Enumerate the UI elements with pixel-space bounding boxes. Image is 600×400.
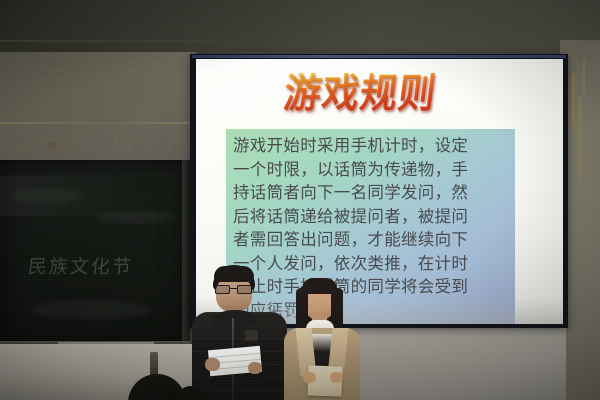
blackboard-smudge-1 [12, 188, 82, 204]
male-hand-left [205, 358, 220, 371]
wall-streak-4 [589, 150, 591, 196]
male-hand-right [248, 362, 262, 374]
male-jacket-logo [245, 330, 258, 341]
paper-line [209, 353, 261, 359]
blackboard-frame-right [182, 160, 190, 348]
wall-streak-2 [578, 96, 581, 180]
slide-body-line: 一个人发问，依次类推，在计时 [233, 252, 508, 276]
wall-scribble [6, 128, 186, 162]
male-glasses-lens-right [237, 285, 252, 294]
male-glasses [215, 285, 254, 294]
blackboard-chalk-text: 民族文化节 [27, 252, 150, 280]
wall-streak-3 [583, 60, 585, 94]
wall-streak-1 [572, 72, 575, 130]
slide-body-textbox: 游戏开始时采用手机计时，设定 一个时限，以话筒为传递物，手 持话筒者向下一名同学… [226, 129, 515, 324]
male-glasses-lens-left [215, 285, 230, 294]
male-glasses-bridge [230, 288, 237, 289]
ceiling-seam [0, 40, 560, 42]
slide-body-line: 者需回答出问题，才能继续向下 [233, 228, 508, 252]
male-jacket-collar [214, 310, 256, 328]
ceiling [0, 0, 600, 58]
classroom-photo: 民族文化节 游戏规则 游戏开始时采用手机计时，设定 一个时限，以话筒为传递物，手… [0, 0, 600, 400]
female-hand-left [303, 372, 316, 383]
male-hair-fringe [214, 266, 254, 282]
female-hand-right [330, 372, 343, 383]
blackboard-smudge-3 [30, 300, 150, 320]
slide-body-line: 游戏开始时采用手机计时，设定 [233, 134, 508, 158]
projection-screen-top-edge [192, 55, 566, 58]
slide-body-line: 停止时手持话筒的同学将会受到 [233, 275, 508, 299]
slide-title: 游戏规则 [281, 71, 465, 118]
slide-body-line: 一个时限，以话筒为传递物，手 [233, 158, 508, 182]
wall-trim-line [0, 122, 190, 124]
blackboard-smudge-2 [96, 210, 176, 224]
wall-hook [150, 352, 158, 376]
slide-body-line: 持话筒者向下一名同学发问，然 [233, 181, 508, 205]
wall-mark [40, 62, 66, 84]
slide-body-line: 后将话筒递给被提问者，被提问 [233, 205, 508, 229]
